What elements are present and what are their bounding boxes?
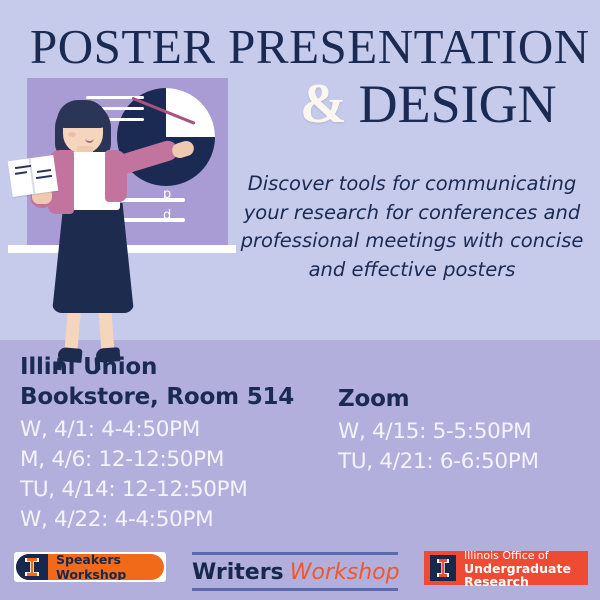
ugr-label-line-1: Illinois Office of bbox=[464, 549, 588, 562]
illinois-block-i-icon bbox=[16, 554, 48, 580]
block-i-inner bbox=[27, 558, 37, 576]
page-title-line-2: &DESIGN bbox=[300, 74, 600, 134]
session-time: TU, 4/14: 12-12:50PM bbox=[20, 475, 340, 505]
writers-word: Writers bbox=[192, 560, 284, 585]
poster-canvas: POSTER PRESENTATION &DESIGN Discover too… bbox=[0, 0, 600, 600]
footer-logo-bar: Speakers Workshop Writers Workshop Illin… bbox=[0, 548, 600, 600]
workshop-word: Workshop bbox=[290, 560, 400, 585]
illinois-block-i-icon bbox=[430, 555, 456, 581]
venue-title-line: Zoom bbox=[338, 384, 600, 414]
venue-title-line: Bookstore, Room 514 bbox=[20, 382, 340, 412]
ugr-label-line-2: Undergraduate Research bbox=[464, 562, 588, 588]
logo-speakers-workshop[interactable]: Speakers Workshop bbox=[14, 552, 166, 582]
venue-title: Zoom bbox=[338, 384, 600, 414]
block-i-inner bbox=[439, 559, 447, 577]
session-time-list: W, 4/1: 4-4:50PM M, 4/6: 12-12:50PM TU, … bbox=[20, 415, 340, 535]
board-mark-d: d bbox=[163, 208, 171, 223]
schedule-column-illini-union: Illini Union Bookstore, Room 514 W, 4/1:… bbox=[20, 352, 340, 535]
session-time: TU, 4/21: 6-6:50PM bbox=[338, 447, 600, 477]
logo-undergraduate-research[interactable]: Illinois Office of Undergraduate Researc… bbox=[424, 551, 588, 585]
writers-rule-bottom bbox=[192, 588, 398, 591]
session-time: W, 4/1: 4-4:50PM bbox=[20, 415, 340, 445]
session-time: M, 4/6: 12-12:50PM bbox=[20, 445, 340, 475]
session-time: W, 4/22: 4-4:50PM bbox=[20, 505, 340, 535]
description-text: Discover tools for communicating your re… bbox=[228, 170, 596, 284]
schedule-section: Illini Union Bookstore, Room 514 W, 4/1:… bbox=[0, 352, 600, 542]
presenter-cheek bbox=[68, 132, 76, 137]
session-time-list: W, 4/15: 5-5:50PM TU, 4/21: 6-6:50PM bbox=[338, 417, 600, 477]
schedule-column-zoom: Zoom W, 4/15: 5-5:50PM TU, 4/21: 6-6:50P… bbox=[338, 384, 600, 477]
venue-title-line: Illini Union bbox=[20, 352, 340, 382]
ampersand-glyph: & bbox=[300, 73, 347, 135]
presenter-skirt bbox=[52, 203, 134, 313]
session-time: W, 4/15: 5-5:50PM bbox=[338, 417, 600, 447]
writers-rule-top bbox=[192, 552, 398, 555]
board-mark-p: p bbox=[163, 187, 171, 202]
logo-writers-workshop[interactable]: Writers Workshop bbox=[186, 550, 404, 592]
writers-workshop-label: Writers Workshop bbox=[192, 558, 398, 587]
presenter-illustration: p d bbox=[0, 60, 240, 370]
page-title-design-word: DESIGN bbox=[359, 74, 557, 134]
speakers-workshop-label: Speakers Workshop bbox=[56, 554, 164, 580]
speakers-workshop-pill: Speakers Workshop bbox=[16, 554, 164, 580]
venue-title: Illini Union Bookstore, Room 514 bbox=[20, 352, 340, 412]
ugr-label: Illinois Office of Undergraduate Researc… bbox=[464, 549, 588, 588]
presenter-hair-front bbox=[57, 100, 107, 128]
